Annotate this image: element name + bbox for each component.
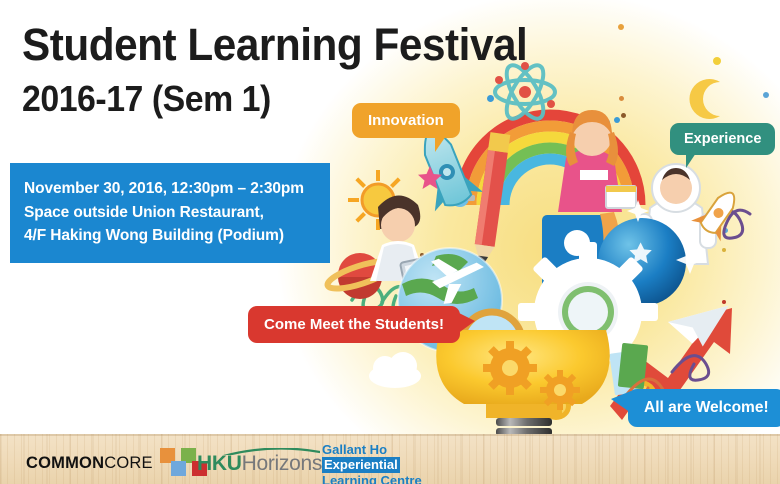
commoncore-wordmark: COMMONCORE <box>26 454 153 473</box>
gallant-ho-line3: Learning Centre <box>322 473 422 484</box>
callout-come-meet-the-students: Come Meet the Students! <box>248 306 460 343</box>
event-venue-line2: 4/F Haking Wong Building (Podium) <box>24 224 316 248</box>
poster-canvas: € $ <box>0 0 780 484</box>
footer-logos: COMMONCORE HKUHorizons Gallant Ho Experi… <box>0 434 780 484</box>
callout-innovation-label: Innovation <box>368 112 444 129</box>
crescent-moon-icon <box>689 79 720 119</box>
callout-tail <box>686 153 696 168</box>
callout-tail <box>435 136 446 152</box>
hku-horizons-wordmark: HKUHorizons <box>197 452 322 476</box>
event-datetime: November 30, 2016, 12:30pm – 2:30pm <box>24 177 316 201</box>
callout-tail <box>457 312 475 334</box>
commoncore-light: CORE <box>104 454 152 472</box>
square-blue <box>171 461 186 476</box>
hku-text: HKU <box>197 452 242 475</box>
callout-tail <box>611 391 631 413</box>
horizons-text: Horizons <box>242 452 322 475</box>
gallant-ho-line1: Gallant Ho <box>322 442 422 457</box>
gallant-ho-line2: Experiential <box>322 457 400 472</box>
event-details-box: November 30, 2016, 12:30pm – 2:30pm Spac… <box>10 163 330 263</box>
callout-experience: Experience <box>670 123 775 155</box>
title-main: Student Learning Festival <box>22 22 417 67</box>
logo-gallant-ho: Gallant Ho Experiential Learning Centre <box>322 442 422 484</box>
event-venue-line1: Space outside Union Restaurant, <box>24 201 316 225</box>
gallant-ho-line2-wrap: Experiential <box>322 457 422 472</box>
light-bulb <box>436 330 610 440</box>
cloud-icon <box>369 352 421 388</box>
callout-innovation: Innovation <box>352 103 460 138</box>
callout-welcome-label: All are Welcome! <box>644 399 769 417</box>
callout-students-label: Come Meet the Students! <box>264 316 444 333</box>
callout-experience-label: Experience <box>684 131 761 147</box>
commoncore-bold: COMMON <box>26 454 104 472</box>
callout-all-are-welcome: All are Welcome! <box>628 389 780 427</box>
logo-commoncore: COMMONCORE <box>26 448 208 478</box>
